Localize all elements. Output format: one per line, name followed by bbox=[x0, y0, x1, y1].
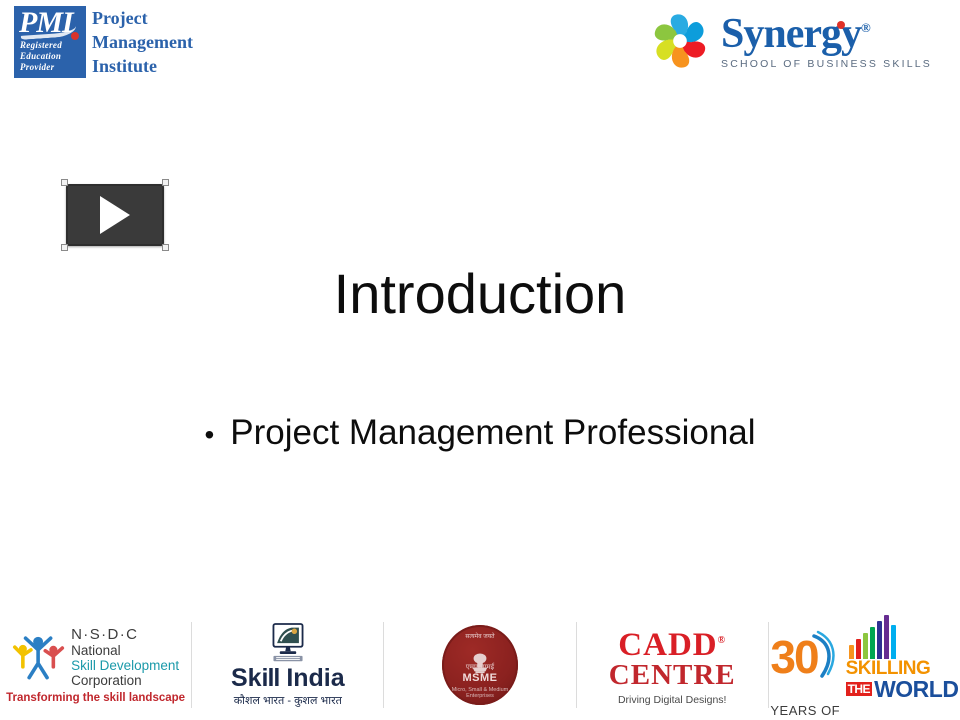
cadd-wordmark-line-2: CENTRE bbox=[609, 661, 736, 690]
resize-handle-bottom-right[interactable] bbox=[162, 244, 169, 251]
pmi-rep-text: Registered Education Provider bbox=[20, 40, 62, 73]
footer-logo-thirty-years: 30 bbox=[769, 617, 960, 713]
thirty-number: 30 bbox=[770, 635, 817, 679]
thirty-bars-icon bbox=[849, 613, 959, 659]
footer-logo-cadd-centre: CADD® CENTRE Driving Digital Designs! bbox=[577, 617, 768, 713]
page-title: Introduction bbox=[0, 262, 960, 326]
pmi-red-dot-icon bbox=[71, 32, 79, 40]
monitor-keyboard-icon bbox=[268, 623, 308, 663]
skill-india-hindi-tagline: कौशल भारत - कुशल भारत bbox=[234, 693, 342, 708]
footer-logo-msme: सत्यमेव जयते एमएसएमई MSME Micro, Small &… bbox=[384, 617, 575, 713]
list-item-label: Project Management Professional bbox=[230, 413, 755, 452]
pmi-logo-mark: PMI Registered Education Provider bbox=[14, 6, 86, 78]
cadd-registered-mark: ® bbox=[718, 635, 726, 646]
resize-handle-bottom-left[interactable] bbox=[61, 244, 68, 251]
pmi-name-line-1: Project bbox=[92, 6, 193, 30]
synergy-wordmark-main: Synerg bbox=[721, 11, 841, 57]
synergy-text-block: Synergy® SCHOOL OF BUSINESS SKILLS bbox=[721, 13, 932, 70]
bullet-marker-icon: • bbox=[204, 412, 214, 458]
presentation-slide: PMI Registered Education Provider Projec… bbox=[0, 0, 960, 720]
pmi-rep-line-2: Education bbox=[20, 51, 62, 62]
cadd-word: CADD bbox=[618, 627, 717, 663]
footer-logo-skill-india: Skill India कौशल भारत - कुशल भारत bbox=[192, 617, 383, 713]
msme-emblem-seal: सत्यमेव जयते एमएसएमई MSME Micro, Small &… bbox=[442, 625, 518, 705]
pmi-name-text: Project Management Institute bbox=[92, 6, 193, 78]
pmi-logo: PMI Registered Education Provider Projec… bbox=[14, 6, 214, 88]
nsdc-line-2: Skill Development bbox=[71, 658, 179, 673]
list-item: •Project Management Professional bbox=[204, 410, 755, 458]
msme-ring-text: Micro, Small & Medium Enterprises bbox=[442, 687, 518, 699]
synergy-wordmark: Synergy® bbox=[721, 13, 932, 55]
nsdc-line-1: National bbox=[71, 643, 179, 658]
resize-handle-top-left[interactable] bbox=[61, 179, 68, 186]
slide-body-list: •Project Management Professional bbox=[120, 410, 840, 458]
msme-top-hindi: सत्यमेव जयते bbox=[442, 632, 518, 640]
three-people-icon bbox=[12, 631, 66, 683]
video-frame[interactable] bbox=[66, 184, 164, 246]
pmi-name-line-2: Management bbox=[92, 30, 193, 54]
skill-india-word-a: Sk bbox=[231, 664, 262, 692]
footer-logo-nsdc: N·S·D·C National Skill Development Corpo… bbox=[0, 617, 191, 713]
synergy-logo: Synergy® SCHOOL OF BUSINESS SKILLS bbox=[649, 6, 932, 76]
skill-india-wordmark: Skill India bbox=[231, 664, 345, 692]
nsdc-line-3: Corporation bbox=[71, 673, 179, 688]
skill-india-word-bars: ill bbox=[262, 664, 280, 692]
cadd-wordmark-line-1: CADD® bbox=[618, 625, 726, 661]
synergy-wordmark-tail: y bbox=[841, 11, 861, 57]
play-triangle-icon[interactable] bbox=[100, 196, 130, 234]
pmi-rep-line-1: Registered bbox=[20, 40, 62, 51]
thirty-skilling-text: SKILLING bbox=[846, 659, 959, 678]
pmi-rep-line-3: Provider bbox=[20, 62, 62, 73]
pinwheel-swirl-icon bbox=[649, 10, 711, 72]
cadd-tagline: Driving Digital Designs! bbox=[609, 694, 736, 706]
skill-india-word-b: India bbox=[279, 664, 344, 692]
thirty-years-of-text: YEARS OF bbox=[770, 703, 840, 718]
nsdc-abbreviation: N·S·D·C bbox=[71, 626, 179, 643]
video-placeholder[interactable] bbox=[66, 184, 164, 246]
pmi-name-line-3: Institute bbox=[92, 54, 193, 78]
msme-hindi-word: एमएसएमई bbox=[442, 663, 518, 672]
footer-logo-bar: N·S·D·C National Skill Development Corpo… bbox=[0, 610, 960, 720]
synergy-tagline: SCHOOL OF BUSINESS SKILLS bbox=[721, 58, 932, 70]
thirty-world-row: THEWORLD bbox=[846, 678, 959, 701]
synergy-red-dot-icon bbox=[837, 21, 845, 29]
synergy-registered-mark: ® bbox=[861, 20, 870, 35]
thirty-the-badge: THE bbox=[846, 682, 873, 696]
thirty-world-text: WORLD bbox=[874, 678, 958, 701]
nsdc-tagline: Transforming the skill landscape bbox=[6, 692, 185, 704]
resize-handle-top-right[interactable] bbox=[162, 179, 169, 186]
msme-word: MSME bbox=[442, 672, 518, 684]
